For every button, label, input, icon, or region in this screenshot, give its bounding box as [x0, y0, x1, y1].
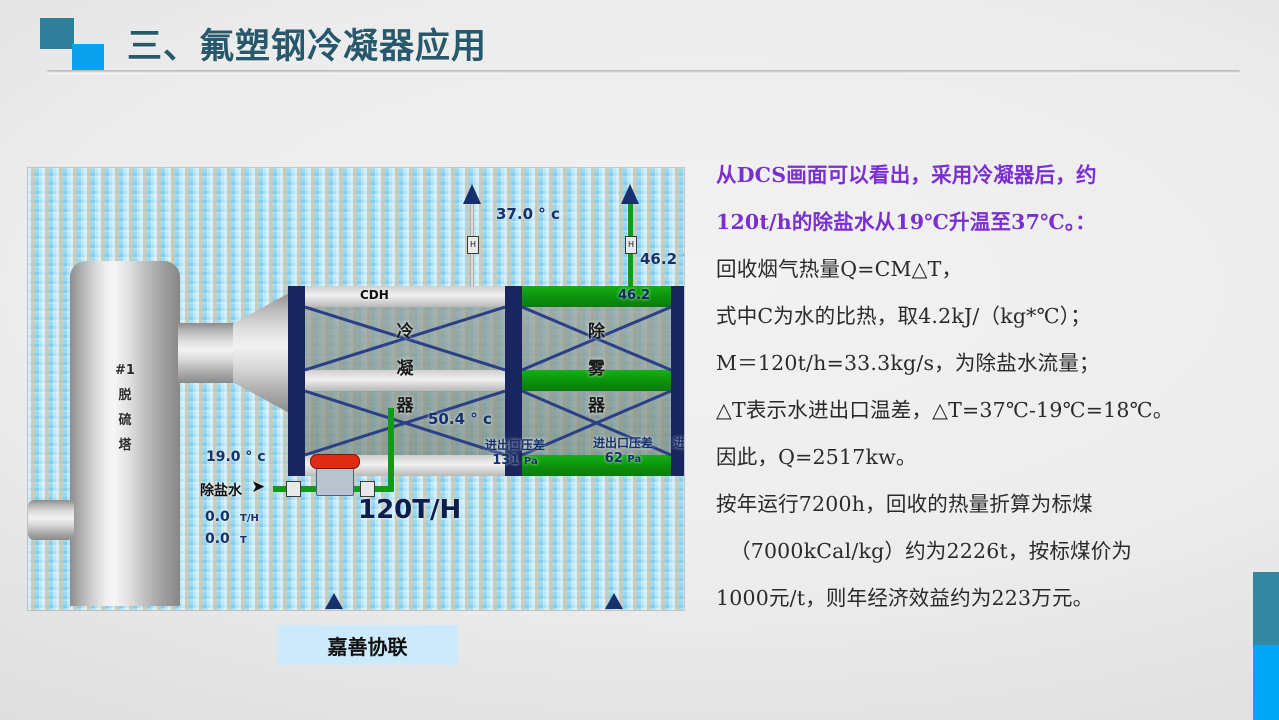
water-inlet-temperature: 19.0 ° c — [206, 449, 266, 465]
control-valve-actuator-icon — [310, 454, 360, 469]
flow-reading-1: 0.0 — [205, 509, 230, 525]
body-line: 按年运行7200h，回收的热量折算为标煤 — [716, 481, 1272, 528]
condenser-bottom-temperature: 50.4 ° c — [428, 410, 492, 428]
demister-temperature: 46.2 ° c — [640, 250, 684, 268]
pressure-drop-1-value: 131 — [492, 453, 519, 468]
condenser-outlet-valve-icon: H — [467, 236, 479, 254]
body-text-block: 从DCS画面可以看出，采用冷凝器后，约 120t/h的除盐水从19℃升温至37℃… — [716, 152, 1272, 622]
body-line: 1000元/t，则年经济效益约为223万元。 — [716, 575, 1272, 622]
pressure-drop-1-value-row: 131 Pa — [460, 453, 570, 468]
demister-band-temp: 46.2 — [618, 288, 650, 303]
demister-label-line: 雾 — [522, 351, 671, 388]
demister-label: 除 雾 器 — [522, 314, 671, 425]
flow-unit-1: T/H — [240, 513, 259, 524]
dcs-screenshot: #1 脱 硫 塔 CDH 冷 — [28, 168, 684, 610]
condenser-label-line: 冷 — [305, 314, 505, 351]
tower-label-line: 脱 — [70, 383, 180, 408]
main-flow-value: 120T/H — [358, 495, 461, 525]
cdh-tag: CDH — [360, 288, 389, 302]
decorative-squares — [40, 18, 118, 76]
water-inlet-label: 除盐水 — [200, 480, 242, 500]
tower-label-line: 塔 — [70, 433, 180, 458]
demister-outlet-valve-icon: H — [625, 236, 637, 254]
page-title: 三、氟塑钢冷凝器应用 — [127, 18, 487, 69]
tower-label-line: 硫 — [70, 408, 180, 433]
demister-label-line: 除 — [522, 314, 671, 351]
square-dark-icon — [40, 18, 74, 49]
support-arrow-right-icon — [605, 593, 623, 609]
condenser-label-line: 凝 — [305, 351, 505, 388]
tower-label-line: #1 — [70, 358, 180, 383]
flow-reading-2: 0.0 — [205, 531, 230, 547]
header-divider — [47, 70, 1240, 75]
outlet-temperature: 37.0 ° c — [496, 205, 560, 223]
pressure-drop-2-name: 进出口压差 — [568, 434, 678, 451]
body-line: （7000kCal/kg）约为2226t，按标煤价为 — [716, 528, 1272, 575]
pressure-drop-1-name: 进出口压差 — [460, 436, 570, 453]
tower-left-pipe — [28, 500, 74, 540]
demister-outlet-arrow-icon — [621, 184, 639, 204]
body-line: 因此，Q=2517kw。 — [716, 434, 1272, 481]
body-line: M＝120t/h=33.3kg/s，为除盐水流量； — [716, 340, 1272, 387]
pressure-drop-3-partial: 进 — [673, 434, 684, 451]
body-line: 式中C为水的比热，取4.2kJ/（kg*℃）； — [716, 293, 1272, 340]
tower-label: #1 脱 硫 塔 — [70, 358, 180, 458]
water-inlet-arrow-icon: ➤ — [251, 477, 265, 497]
pressure-drop-2-unit: Pa — [627, 454, 641, 465]
condenser-label: 冷 凝 器 — [305, 314, 505, 425]
body-line: 回收烟气热量Q=CM△T， — [716, 246, 1272, 293]
pressure-drop-2: 进出口压差 62 Pa — [568, 434, 678, 466]
image-caption: 嘉善协联 — [277, 625, 458, 665]
vessel-post-left — [288, 286, 305, 476]
water-riser-pipe — [388, 408, 394, 492]
pressure-drop-2-value: 62 — [605, 451, 623, 466]
pressure-drop-1: 进出口压差 131 Pa — [460, 436, 570, 468]
demister-label-line: 器 — [522, 388, 671, 425]
duct-segment — [178, 323, 236, 383]
condenser-outlet-arrow-icon — [463, 184, 481, 204]
pressure-drop-2-value-row: 62 Pa — [568, 451, 678, 466]
pressure-drop-1-unit: Pa — [524, 456, 538, 467]
slide-root: 三、氟塑钢冷凝器应用 #1 脱 硫 塔 — [0, 0, 1279, 720]
support-arrow-left-icon — [325, 593, 343, 609]
body-line: △T表示水进出口温差，△T=37℃-19℃=18℃。 — [716, 387, 1272, 434]
inlet-valve-1-icon — [286, 481, 301, 497]
flow-unit-2: T — [240, 535, 247, 546]
body-line: 120t/h的除盐水从19℃升温至37℃。： — [716, 199, 1272, 246]
accent-block-blue — [1253, 645, 1279, 720]
body-line: 从DCS画面可以看出，采用冷凝器后，约 — [716, 152, 1272, 199]
